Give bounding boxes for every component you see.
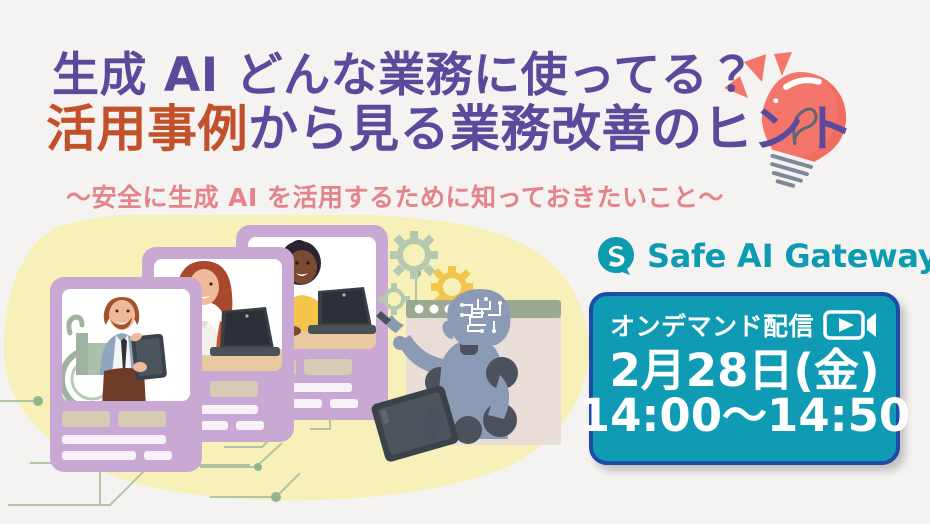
logo-text-ai: AI — [737, 237, 774, 275]
ondemand-row: オンデマンド配信 — [593, 304, 896, 346]
title-line-1: 生成 AI どんな業務に使ってる？ — [0, 52, 790, 100]
logo-text-gateway: Gateway — [774, 237, 930, 275]
illustration-group — [0, 215, 620, 524]
ondemand-label: オンデマンド配信 — [610, 307, 814, 343]
subtitle: 〜安全に生成 AI を活用するために知っておきたいこと〜 — [0, 178, 790, 214]
video-camera-icon — [823, 309, 879, 341]
title-line-2: 活用事例から見る業務改善のヒント — [0, 104, 790, 155]
title-block: 生成 AI どんな業務に使ってる？ 活用事例から見る業務改善のヒント — [0, 52, 790, 155]
safe-ai-gateway-logo-mark — [596, 236, 636, 276]
webinar-banner: 生成 AI どんな業務に使ってる？ 活用事例から見る業務改善のヒント 〜安全に生… — [0, 0, 930, 524]
title-rest-text: から見る業務改善のヒント — [248, 100, 854, 158]
broadcast-info-panel: オンデマンド配信 2月28日(金) 14:00〜14:50 — [589, 292, 900, 465]
broadcast-time: 14:00〜14:50 — [579, 392, 910, 439]
safe-ai-gateway-logo: Safe AI Gateway — [596, 236, 930, 276]
logo-text: Safe AI Gateway — [647, 240, 930, 272]
broadcast-date: 2月28日(金) — [609, 347, 879, 394]
logo-text-safe: Safe — [647, 237, 737, 275]
title-accent-text: 活用事例 — [46, 100, 248, 158]
card-person-1 — [50, 277, 202, 472]
